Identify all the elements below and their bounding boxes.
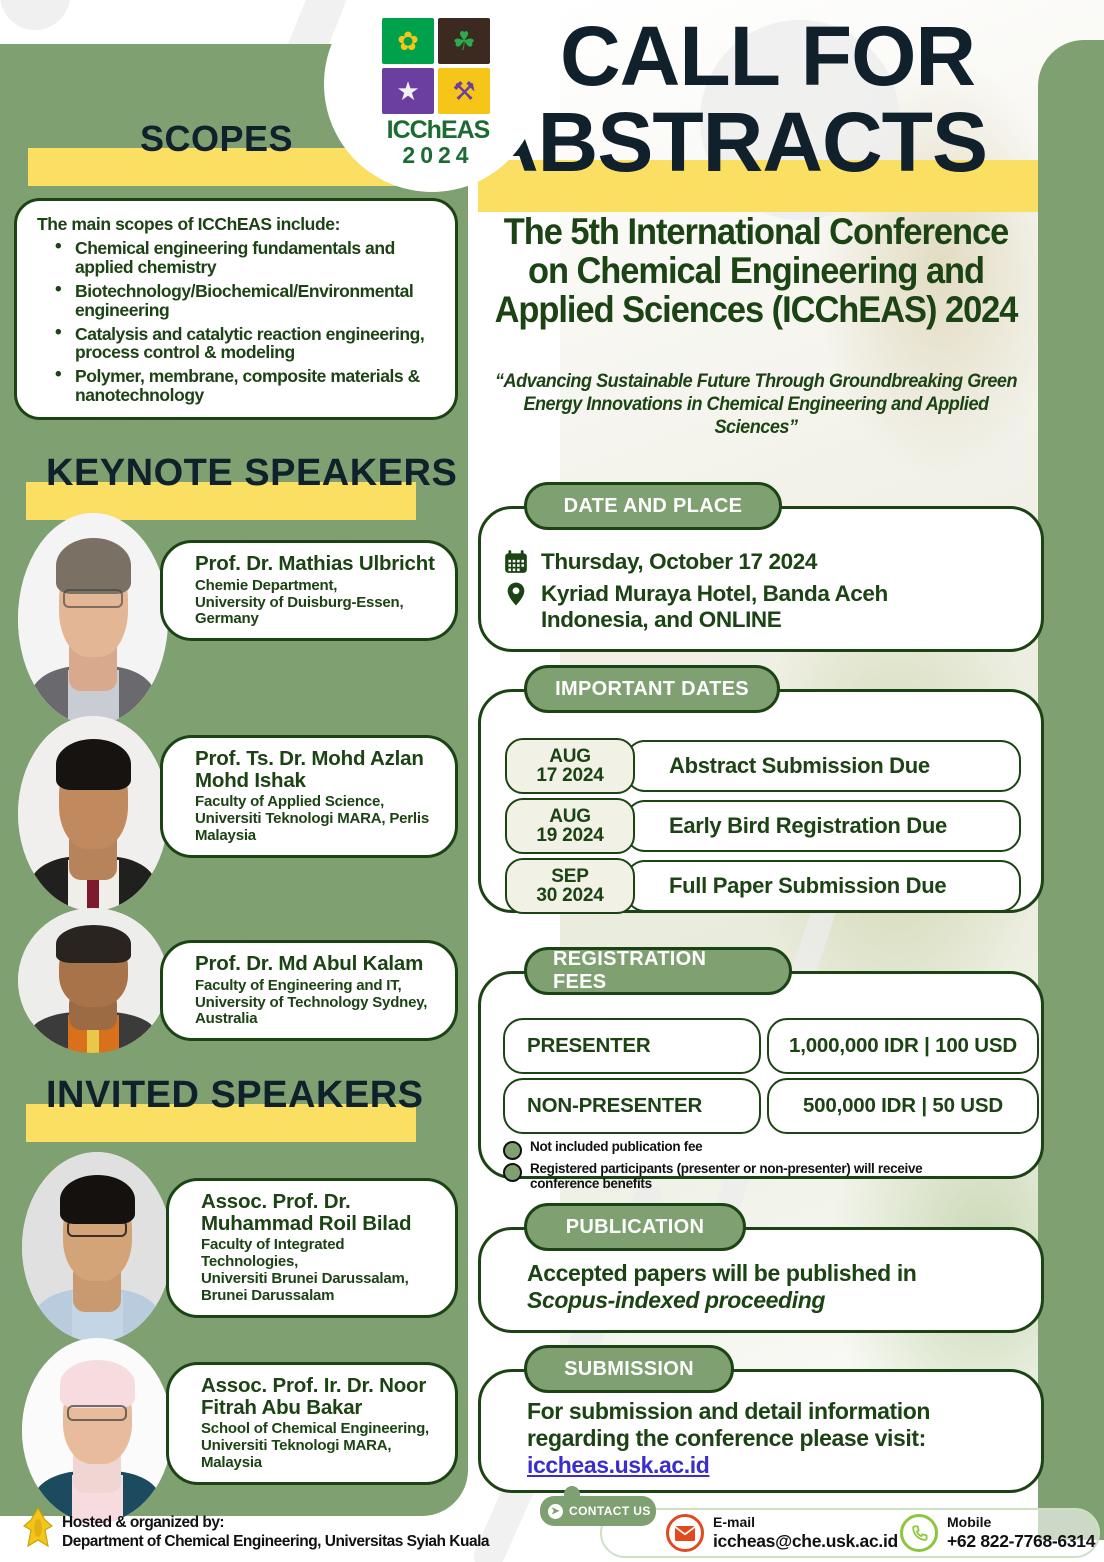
hosted-label: Hosted & organized by: <box>62 1513 489 1532</box>
table-row: PRESENTER 1,000,000 IDR | 100 USD <box>503 1018 1039 1074</box>
hosted-org: Department of Chemical Engineering, Univ… <box>62 1532 489 1551</box>
location-pin-icon <box>503 581 529 607</box>
mobile-value: +62 822-7768-6314 <box>947 1531 1095 1551</box>
logo-cell-utm-icon: ⚒ <box>438 68 490 114</box>
page-title-line2: ABSTRACTS <box>478 104 987 181</box>
bullet-icon <box>503 1163 522 1182</box>
invited-speaker-card: Assoc. Prof. Dr. Muhammad Roil Bilad Fac… <box>166 1178 458 1318</box>
submission-section: For submission and detail information re… <box>478 1345 1044 1493</box>
speaker-name: Prof. Ts. Dr. Mohd Azlan Mohd Ishak <box>195 748 439 791</box>
list-item: Catalysis and catalytic reaction enginee… <box>49 325 449 363</box>
registration-fees-body: PRESENTER 1,000,000 IDR | 100 USD NON-PR… <box>478 971 1044 1179</box>
registration-fees-section: PRESENTER 1,000,000 IDR | 100 USD NON-PR… <box>478 947 1044 1179</box>
logo-cell-unsyiah-icon: ☘ <box>438 18 490 64</box>
list-item: Polymer, membrane, composite materials &… <box>49 367 449 405</box>
avatar <box>22 1338 172 1523</box>
date-line: Thursday, October 17 2024 <box>503 549 888 575</box>
fee-type: PRESENTER <box>503 1018 761 1074</box>
place-line-1: Kyriad Muraya Hotel, Banda Aceh <box>541 581 888 606</box>
date-badge: AUG 17 2024 <box>505 738 635 794</box>
important-dates-section: AUG 17 2024 Abstract Submission Due AUG … <box>478 665 1044 913</box>
scopes-heading: SCOPES <box>140 118 293 160</box>
avatar <box>18 908 168 1053</box>
conference-title: The 5th International Conference on Chem… <box>484 212 1027 330</box>
date-and-place-heading: DATE AND PLACE <box>524 482 782 530</box>
footer-host-info: Hosted & organized by: Department of Che… <box>62 1513 489 1552</box>
envelope-icon <box>666 1514 704 1552</box>
logo-year: 2024 <box>382 142 494 169</box>
contact-us-label: CONTACT US <box>569 1504 651 1518</box>
publication-text-plain: Accepted papers will be published in <box>527 1260 916 1286</box>
date-description: Early Bird Registration Due <box>625 800 1021 852</box>
poster-root: SCOPES The main scopes of ICChEAS includ… <box>0 0 1104 1562</box>
contact-email: E-mail iccheas@che.usk.ac.id <box>666 1514 898 1552</box>
submission-text-block: For submission and detail information re… <box>527 1398 997 1479</box>
publication-section: Accepted papers will be published in Sco… <box>478 1203 1044 1333</box>
registration-fees-heading: REGISTRATION FEES <box>524 947 792 995</box>
place-line-2: Indonesia, and ONLINE <box>541 607 781 632</box>
list-item: Biotechnology/Biochemical/Environmental … <box>49 282 449 320</box>
speaker-affiliation: Chemie Department, University of Duisbur… <box>195 578 439 628</box>
contact-mobile: Mobile +62 822-7768-6314 <box>900 1514 1095 1552</box>
fee-amount: 500,000 IDR | 50 USD <box>767 1078 1039 1134</box>
fee-note-text: Not included publication fee <box>530 1140 702 1155</box>
fee-amount: 1,000,000 IDR | 100 USD <box>767 1018 1039 1074</box>
table-row: AUG 17 2024 Abstract Submission Due <box>505 738 1021 794</box>
logo-cell-undip-icon: ★ <box>382 68 434 114</box>
date-value: Thursday, October 17 2024 <box>541 549 817 575</box>
list-item: Chemical engineering fundamentals and ap… <box>49 239 449 277</box>
fee-note-text: Registered participants (presenter or no… <box>530 1162 990 1191</box>
date-month: SEP <box>551 867 588 886</box>
date-description: Full Paper Submission Due <box>625 860 1021 912</box>
conference-theme: “Advancing Sustainable Future Through Gr… <box>484 370 1027 440</box>
date-month: AUG <box>549 807 591 826</box>
invited-heading: INVITED SPEAKERS <box>46 1074 424 1117</box>
date-badge: SEP 30 2024 <box>505 858 635 914</box>
invited-speaker-card: Assoc. Prof. Ir. Dr. Noor Fitrah Abu Bak… <box>166 1362 458 1485</box>
speaker-name: Assoc. Prof. Ir. Dr. Noor Fitrah Abu Bak… <box>201 1375 439 1418</box>
right-green-bar <box>1038 40 1104 1540</box>
date-description: Abstract Submission Due <box>625 740 1021 792</box>
logo-cell-usk-icon: ✿ <box>382 18 434 64</box>
scopes-card: The main scopes of ICChEAS include: Chem… <box>14 198 458 420</box>
speaker-name: Assoc. Prof. Dr. Muhammad Roil Bilad <box>201 1191 439 1234</box>
submission-link[interactable]: iccheas.usk.ac.id <box>527 1452 709 1478</box>
avatar <box>18 716 168 911</box>
avatar <box>22 1152 172 1342</box>
submission-text: For submission and detail information re… <box>527 1398 930 1451</box>
keynote-heading: KEYNOTE SPEAKERS <box>46 452 457 495</box>
date-day-year: 30 2024 <box>536 886 603 905</box>
important-dates-heading: IMPORTANT DATES <box>524 665 780 713</box>
place-line: Kyriad Muraya Hotel, Banda Aceh Indonesi… <box>503 581 888 633</box>
publication-text-italic: Scopus-indexed proceeding <box>527 1287 825 1313</box>
speaker-affiliation: Faculty of Engineering and IT, Universit… <box>195 978 439 1028</box>
keynote-speaker-card: Prof. Dr. Mathias Ulbricht Chemie Depart… <box>160 540 458 641</box>
speaker-affiliation: Faculty of Integrated Technologies, Univ… <box>201 1237 439 1304</box>
speaker-affiliation: Faculty of Applied Science, Universiti T… <box>195 794 439 844</box>
scopes-intro: The main scopes of ICChEAS include: <box>37 214 340 235</box>
fee-type: NON-PRESENTER <box>503 1078 761 1134</box>
background-circle <box>0 0 70 30</box>
page-title-line1: CALL FOR <box>560 18 975 95</box>
publication-heading: PUBLICATION <box>524 1203 746 1251</box>
fee-note: Not included publication fee <box>503 1140 1039 1160</box>
keynote-speaker-card: Prof. Ts. Dr. Mohd Azlan Mohd Ishak Facu… <box>160 735 458 858</box>
publication-text: Accepted papers will be published in Sco… <box>527 1260 916 1314</box>
logo-wordmark: ICChEAS <box>382 116 494 145</box>
mobile-label: Mobile <box>947 1514 991 1530</box>
chevron-right-icon: ➤ <box>548 1504 563 1519</box>
important-dates-body: AUG 17 2024 Abstract Submission Due AUG … <box>478 689 1044 913</box>
date-and-place-section: Thursday, October 17 2024 Kyriad Muraya … <box>478 482 1044 652</box>
speaker-affiliation: School of Chemical Engineering, Universi… <box>201 1421 439 1471</box>
speaker-name: Prof. Dr. Md Abul Kalam <box>195 953 439 975</box>
date-day-year: 17 2024 <box>536 766 603 785</box>
date-month: AUG <box>549 747 591 766</box>
email-label: E-mail <box>713 1514 755 1530</box>
submission-heading: SUBMISSION <box>524 1345 734 1393</box>
fee-note: Registered participants (presenter or no… <box>503 1162 1039 1191</box>
table-row: SEP 30 2024 Full Paper Submission Due <box>505 858 1021 914</box>
speaker-name: Prof. Dr. Mathias Ulbricht <box>195 553 439 575</box>
date-day-year: 19 2024 <box>536 826 603 845</box>
calendar-icon <box>503 549 529 575</box>
phone-icon <box>900 1514 938 1552</box>
avatar <box>18 513 168 725</box>
scopes-list: Chemical engineering fundamentals and ap… <box>49 239 449 410</box>
contact-us-tab: ➤ CONTACT US <box>540 1496 656 1526</box>
date-badge: AUG 19 2024 <box>505 798 635 854</box>
table-row: NON-PRESENTER 500,000 IDR | 50 USD <box>503 1078 1039 1134</box>
bullet-icon <box>503 1141 522 1160</box>
keynote-speaker-card: Prof. Dr. Md Abul Kalam Faculty of Engin… <box>160 940 458 1041</box>
email-value: iccheas@che.usk.ac.id <box>713 1531 898 1551</box>
table-row: AUG 19 2024 Early Bird Registration Due <box>505 798 1021 854</box>
usk-logo-icon <box>18 1506 58 1554</box>
iccheas-logo: ✿ ☘ ★ ⚒ <box>382 18 490 114</box>
